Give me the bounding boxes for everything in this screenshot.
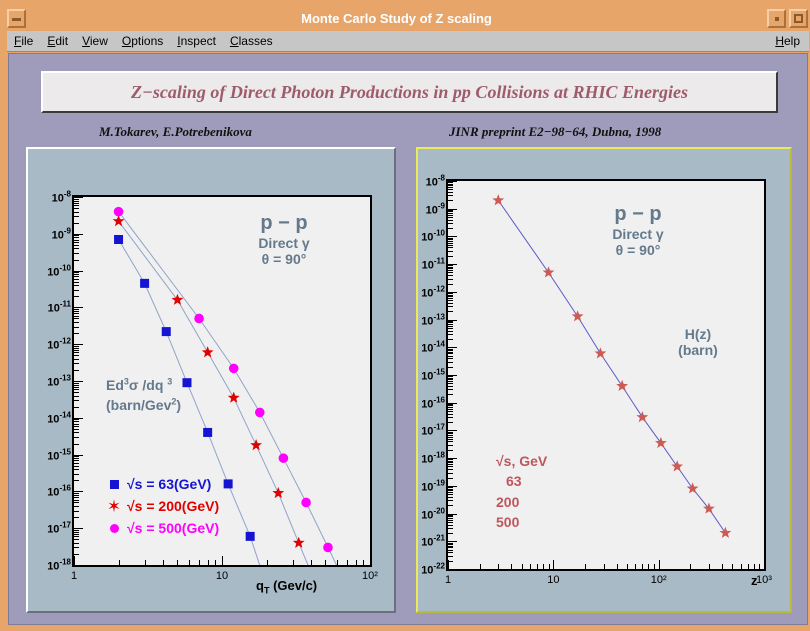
application-window: Monte Carlo Study of Z scaling File Edit… [0, 0, 810, 631]
menu-inspect[interactable]: Inspect [170, 33, 223, 49]
circle-marker-icon [104, 522, 124, 535]
root-canvas[interactable]: Z−scaling of Direct Photon Productions i… [8, 53, 808, 625]
y-tick-label: 10-10 [47, 263, 71, 278]
y-tick-label: 10-8 [426, 174, 445, 189]
x-tick-label: 10 [216, 570, 228, 582]
y-tick-label: 10-13 [421, 312, 445, 327]
title-bar: Monte Carlo Study of Z scaling [7, 7, 809, 30]
left-y-title-line2: (barn/Gev2) [106, 395, 181, 415]
left-y-title-line1: Ed3σ /dq 3 [106, 375, 181, 395]
menu-edit[interactable]: Edit [40, 33, 75, 49]
y-tick-label: 10-15 [421, 368, 445, 383]
maximize-icon [794, 14, 803, 23]
x-tick-label: 10² [651, 574, 667, 586]
right-pad[interactable]: 10-810-910-1010-1110-1210-1310-1410-1510… [416, 147, 792, 613]
left-legend: √s = 63(GeV) ✶ √s = 200(GeV) √s = 500(Ge… [104, 473, 219, 539]
right-anno-barn: (barn) [653, 342, 743, 358]
x-tick-label: 10 [547, 574, 559, 586]
left-pad[interactable]: 10-810-910-1010-1110-1210-1310-1410-1510… [26, 147, 396, 613]
right-annotation-block: p − p Direct γ θ = 90° [578, 203, 698, 258]
y-tick-label: 10-9 [426, 201, 445, 216]
y-tick-label: 10-17 [47, 521, 71, 536]
left-annotation-block: p − p Direct γ θ = 90° [224, 212, 344, 267]
y-tick-label: 10-16 [47, 484, 71, 499]
minimize-button[interactable] [767, 9, 786, 28]
y-tick-label: 10-22 [421, 562, 445, 577]
menu-file[interactable]: File [7, 33, 40, 49]
legend-entry-63[interactable]: √s = 63(GeV) [104, 473, 219, 495]
right-legend: √s, GeV 63 200 500 [496, 451, 547, 532]
menu-view[interactable]: View [75, 33, 115, 49]
y-tick-label: 10-10 [421, 229, 445, 244]
star-marker-icon: ✶ [104, 502, 124, 511]
right-x-axis-title: z [751, 573, 758, 588]
y-tick-label: 10-21 [421, 534, 445, 549]
minimize-dot-icon [775, 17, 779, 21]
menu-file-label: ile [21, 34, 33, 48]
y-tick-major [448, 569, 457, 570]
right-legend-63: 63 [496, 471, 547, 491]
y-tick-label: 10-8 [52, 190, 71, 205]
y-tick-label: 10-18 [47, 558, 71, 573]
y-tick-label: 10-13 [47, 374, 71, 389]
right-legend-500: 500 [496, 512, 547, 532]
right-anno-direct: Direct γ [578, 226, 698, 242]
y-tick-label: 10-15 [47, 447, 71, 462]
right-plot-frame: 10-810-910-1010-1110-1210-1310-1410-1510… [446, 179, 766, 571]
x-tick-label: 10² [362, 570, 378, 582]
legend-label-500: √s = 500(GeV) [127, 520, 219, 536]
headline-banner: Z−scaling of Direct Photon Productions i… [41, 71, 778, 113]
right-anno-hz: H(z) [653, 326, 743, 342]
right-anno-theta: θ = 90° [578, 242, 698, 258]
y-tick-label: 10-12 [421, 285, 445, 300]
square-marker-icon [104, 478, 124, 491]
legend-label-63: √s = 63(GeV) [127, 476, 211, 492]
x-tick-label: 10³ [756, 574, 772, 586]
menu-edit-label: dit [55, 34, 68, 48]
menu-classes-label: lasses [239, 34, 273, 48]
left-x-axis-title: qT (Gev/c) [256, 578, 317, 596]
legend-entry-200[interactable]: ✶ √s = 200(GeV) [104, 495, 219, 517]
right-anno-pp: p − p [578, 203, 698, 226]
y-tick-label: 10-17 [421, 423, 445, 438]
y-tick-label: 10-16 [421, 395, 445, 410]
authors-text: M.Tokarev, E.Potrebenikova [99, 124, 252, 140]
menu-help-label: elp [784, 34, 800, 48]
y-tick-major [74, 565, 83, 566]
left-y-title: Ed3σ /dq 3 (barn/Gev2) [106, 375, 181, 416]
maximize-button[interactable] [789, 9, 808, 28]
x-tick-major [764, 560, 765, 569]
y-tick-label: 10-18 [421, 451, 445, 466]
y-tick-label: 10-14 [47, 410, 71, 425]
y-tick-label: 10-20 [421, 506, 445, 521]
legend-label-200: √s = 200(GeV) [127, 498, 219, 514]
right-legend-title: √s, GeV [496, 451, 547, 471]
y-tick-label: 10-11 [422, 257, 445, 272]
left-anno-pp: p − p [224, 212, 344, 235]
preprint-text: JINR preprint E2−98−64, Dubna, 1998 [449, 124, 661, 140]
menu-classes[interactable]: Classes [223, 33, 280, 49]
menu-inspect-label: nspect [181, 34, 216, 48]
y-tick-label: 10-11 [48, 300, 71, 315]
window-controls [767, 9, 808, 28]
right-hz-label: H(z) (barn) [653, 326, 743, 358]
y-tick-label: 10-19 [421, 479, 445, 494]
x-tick-major [370, 556, 371, 565]
menu-options[interactable]: Options [115, 33, 170, 49]
window-title: Monte Carlo Study of Z scaling [26, 11, 767, 26]
legend-entry-500[interactable]: √s = 500(GeV) [104, 517, 219, 539]
left-anno-direct: Direct γ [224, 235, 344, 251]
y-tick-label: 10-14 [421, 340, 445, 355]
menu-options-label: ptions [131, 34, 163, 48]
y-tick-label: 10-12 [47, 337, 71, 352]
right-legend-200: 200 [496, 492, 547, 512]
left-anno-theta: θ = 90° [224, 251, 344, 267]
menu-bar: File Edit View Options Inspect Classes H… [7, 31, 809, 52]
x-tick-label: 1 [71, 570, 77, 582]
minimize-icon [12, 18, 21, 21]
y-tick-label: 10-9 [52, 226, 71, 241]
left-plot-frame: 10-810-910-1010-1110-1210-1310-1410-1510… [72, 195, 372, 567]
menu-help[interactable]: Help [768, 33, 809, 49]
headline-text: Z−scaling of Direct Photon Productions i… [131, 82, 688, 103]
window-menu-button[interactable] [7, 9, 26, 28]
x-tick-label: 1 [445, 574, 451, 586]
menu-view-label: iew [90, 34, 108, 48]
